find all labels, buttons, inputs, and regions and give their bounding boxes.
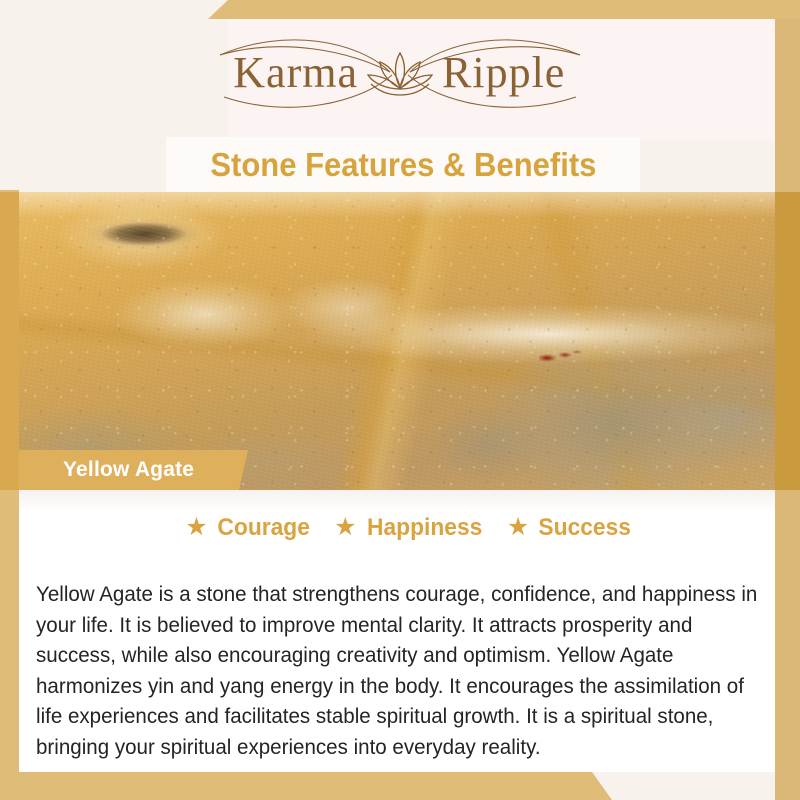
star-icon: ★ <box>185 515 207 540</box>
stone-image <box>19 192 775 490</box>
stone-red-inclusion <box>539 350 585 363</box>
brand-logo-graphic: Karma Ripple <box>190 31 610 117</box>
frame-left-gold-accent <box>0 192 19 490</box>
poster-header: Karma Ripple <box>0 0 800 140</box>
lotus-icon <box>368 53 432 95</box>
benefit-label: Courage <box>217 514 309 542</box>
star-icon: ★ <box>334 515 356 540</box>
section-title-panel: Stone Features & Benefits <box>166 137 640 192</box>
stone-texture-speckle <box>19 192 775 490</box>
benefit-label: Happiness <box>367 514 482 542</box>
stone-caption-band: Yellow Agate <box>19 450 248 490</box>
stone-caption-label: Yellow Agate <box>19 458 194 482</box>
benefits-list: ★ Courage ★ Happiness ★ Success <box>19 514 800 542</box>
page-title: Stone Features & Benefits <box>210 146 596 184</box>
brand-logo: Karma Ripple <box>0 34 800 114</box>
benefit-item-happiness: ★ Happiness <box>334 514 485 542</box>
brand-name-left: Karma <box>233 48 358 97</box>
frame-bottom-gold <box>0 772 800 800</box>
brand-name-right: Ripple <box>442 48 565 97</box>
benefit-label: Success <box>539 514 632 542</box>
benefit-item-success: ★ Success <box>507 514 634 542</box>
frame-right-gold-accent <box>775 192 800 490</box>
benefit-item-courage: ★ Courage <box>185 514 312 542</box>
stone-description: Yellow Agate is a stone that strengthens… <box>36 579 762 762</box>
stone-top-highlight <box>19 192 775 218</box>
star-icon: ★ <box>507 515 529 540</box>
product-info-poster: Karma Ripple Stone Features & Benefits Y… <box>0 0 800 800</box>
content-top-fade <box>19 490 800 512</box>
content-panel: ★ Courage ★ Happiness ★ Success Yellow A… <box>19 490 800 772</box>
